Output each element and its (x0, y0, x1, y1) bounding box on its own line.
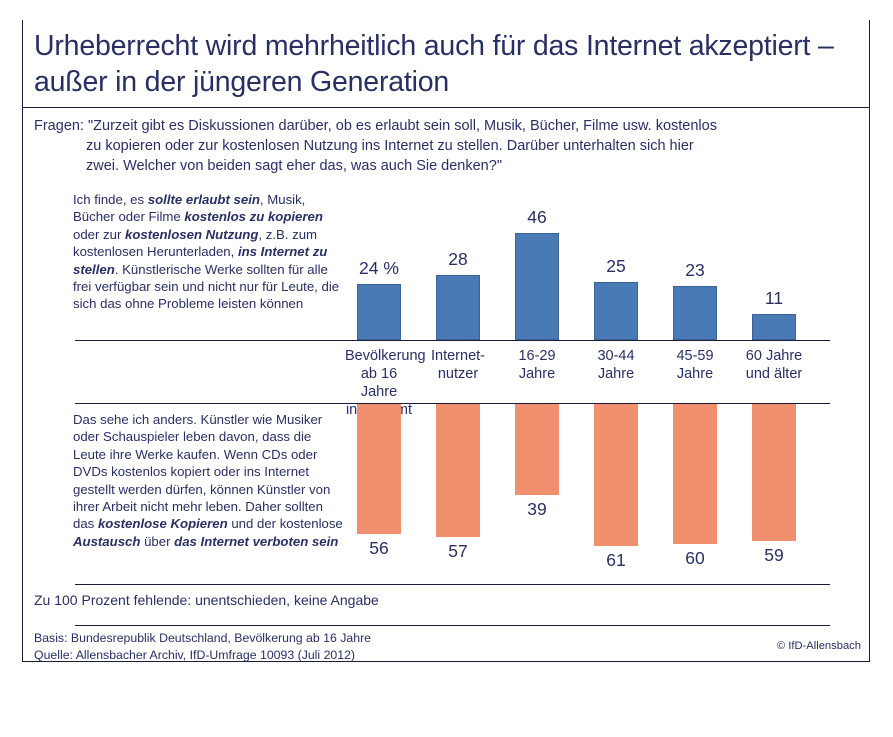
chart-page: Urheberrecht wird mehrheitlich auch für … (0, 0, 893, 737)
bar-agree-4 (673, 286, 717, 340)
category-label-line: 16-29 (503, 347, 571, 365)
bar-value-disagree-0: 56 (345, 538, 413, 559)
question-line-3: zwei. Welcher von beiden sagt eher das, … (34, 156, 858, 176)
category-label-line: Jahre (503, 365, 571, 383)
statement-agree-run-0: Ich finde, es (73, 192, 148, 207)
bar-value-agree-2: 46 (503, 207, 571, 228)
bar-disagree-4 (673, 404, 717, 544)
statement-disagree-run-1: kostenlose Kopieren (98, 516, 228, 531)
bar-disagree-0 (357, 404, 401, 534)
question-block: Fragen: "Zurzeit gibt es Diskussionen da… (34, 116, 858, 176)
question-line-1: "Zurzeit gibt es Diskussionen darüber, o… (88, 118, 717, 134)
category-label-line: Internet- (424, 347, 492, 365)
statement-agree-run-5: kostenlosen Nutzung (125, 227, 258, 242)
category-label-line: 60 Jahre (740, 347, 808, 365)
bar-value-disagree-5: 59 (740, 545, 808, 566)
bar-agree-3 (594, 282, 638, 340)
bar-value-agree-3: 25 (582, 256, 650, 277)
category-label-line: nutzer (424, 365, 492, 383)
statement-disagree: Das sehe ich anders. Künstler wie Musike… (73, 411, 345, 550)
category-label-2: 16-29Jahre (503, 347, 571, 383)
bar-value-disagree-3: 61 (582, 550, 650, 571)
title-divider (22, 107, 870, 108)
statement-disagree-run-2: und der kostenlose (228, 516, 343, 531)
category-label-line: 30-44 (582, 347, 650, 365)
source-basis: Basis: Bundesrepublik Deutschland, Bevöl… (34, 630, 371, 647)
category-label-1: Internet-nutzer (424, 347, 492, 383)
bar-value-agree-5: 11 (740, 288, 808, 309)
statement-agree-run-1: sollte erlaubt sein (148, 192, 260, 207)
copyright: © IfD-Allensbach (777, 640, 861, 652)
bar-disagree-5 (752, 404, 796, 541)
category-label-line: 45-59 (661, 347, 729, 365)
page-title: Urheberrecht wird mehrheitlich auch für … (34, 28, 854, 100)
category-label-3: 30-44Jahre (582, 347, 650, 383)
source-quelle: Quelle: Allensbacher Archiv, IfD-Umfrage… (34, 647, 371, 664)
bar-disagree-1 (436, 404, 480, 537)
statement-agree-run-3: kostenlos zu kopieren (184, 209, 323, 224)
bar-disagree-2 (515, 404, 559, 495)
bar-agree-5 (752, 314, 796, 340)
category-label-line: Bevölkerung (345, 347, 413, 365)
bar-value-agree-4: 23 (661, 260, 729, 281)
statement-agree-run-4: oder zur (73, 227, 125, 242)
category-label-line: Jahre (582, 365, 650, 383)
category-label-4: 45-59Jahre (661, 347, 729, 383)
question-label: Fragen: (34, 118, 84, 134)
footnote-bottom-rule (75, 625, 830, 626)
sources: Basis: Bundesrepublik Deutschland, Bevöl… (34, 630, 371, 663)
category-label-5: 60 Jahreund älter (740, 347, 808, 383)
statement-agree: Ich finde, es sollte erlaubt sein, Musik… (73, 191, 345, 313)
statement-disagree-run-3: Austausch (73, 534, 140, 549)
statement-disagree-run-0: Das sehe ich anders. Künstler wie Musike… (73, 412, 330, 531)
statement-disagree-run-4: über (140, 534, 174, 549)
bar-value-disagree-4: 60 (661, 548, 729, 569)
bar-agree-0 (357, 284, 401, 340)
category-label-line: Jahre (661, 365, 729, 383)
bar-value-disagree-2: 39 (503, 499, 571, 520)
category-label-line: ab 16 Jahre (345, 365, 413, 401)
category-label-line: und älter (740, 365, 808, 383)
question-line-2: zu kopieren oder zur kostenlosen Nutzung… (34, 136, 858, 156)
bar-value-agree-0: 24 % (345, 258, 413, 279)
bar-chart: 24 %Bevölkerungab 16 Jahreinsgesamt5628I… (345, 191, 845, 591)
bar-agree-2 (515, 233, 559, 340)
bar-disagree-3 (594, 404, 638, 546)
bar-agree-1 (436, 275, 480, 340)
bar-value-agree-1: 28 (424, 249, 492, 270)
bar-value-disagree-1: 57 (424, 541, 492, 562)
footnote: Zu 100 Prozent fehlende: unentschieden, … (34, 592, 379, 608)
statement-disagree-run-5: das Internet verboten sein (174, 534, 338, 549)
